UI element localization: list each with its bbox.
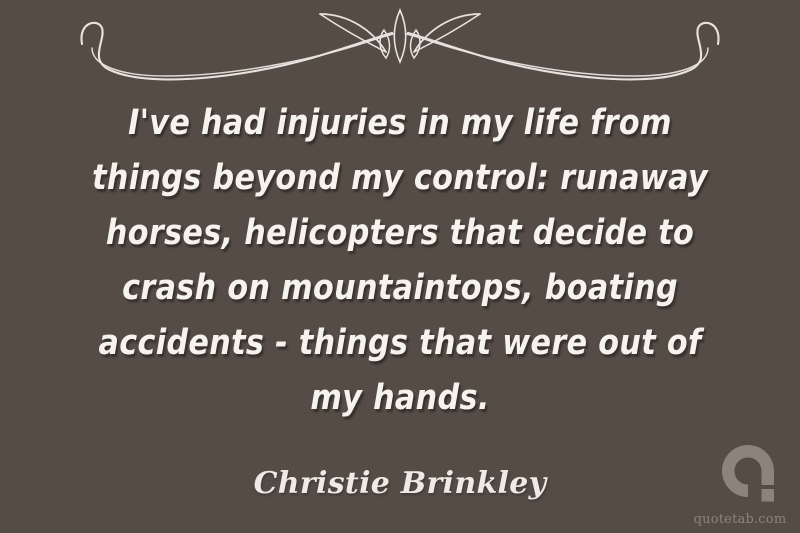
- quote-line: horses, helicopters that decide to: [54, 206, 745, 261]
- quote-line: accidents - things that were out of: [54, 316, 745, 371]
- quote-author: Christie Brinkley: [0, 466, 800, 501]
- watermark[interactable]: quotetab.com: [688, 443, 792, 529]
- decorative-flourish-icon: [62, 6, 738, 82]
- quote-line: my hands.: [54, 371, 745, 426]
- quote-image-card: I've had injuries in my life from things…: [0, 0, 800, 533]
- quote-text: I've had injuries in my life from things…: [40, 96, 760, 426]
- quotetab-logo-icon[interactable]: [720, 443, 776, 505]
- quote-line: I've had injuries in my life from: [54, 96, 745, 151]
- quote-line: things beyond my control: runaway: [54, 151, 745, 206]
- watermark-site-label: quotetab.com: [688, 512, 792, 527]
- quote-line: crash on mountaintops, boating: [54, 261, 745, 316]
